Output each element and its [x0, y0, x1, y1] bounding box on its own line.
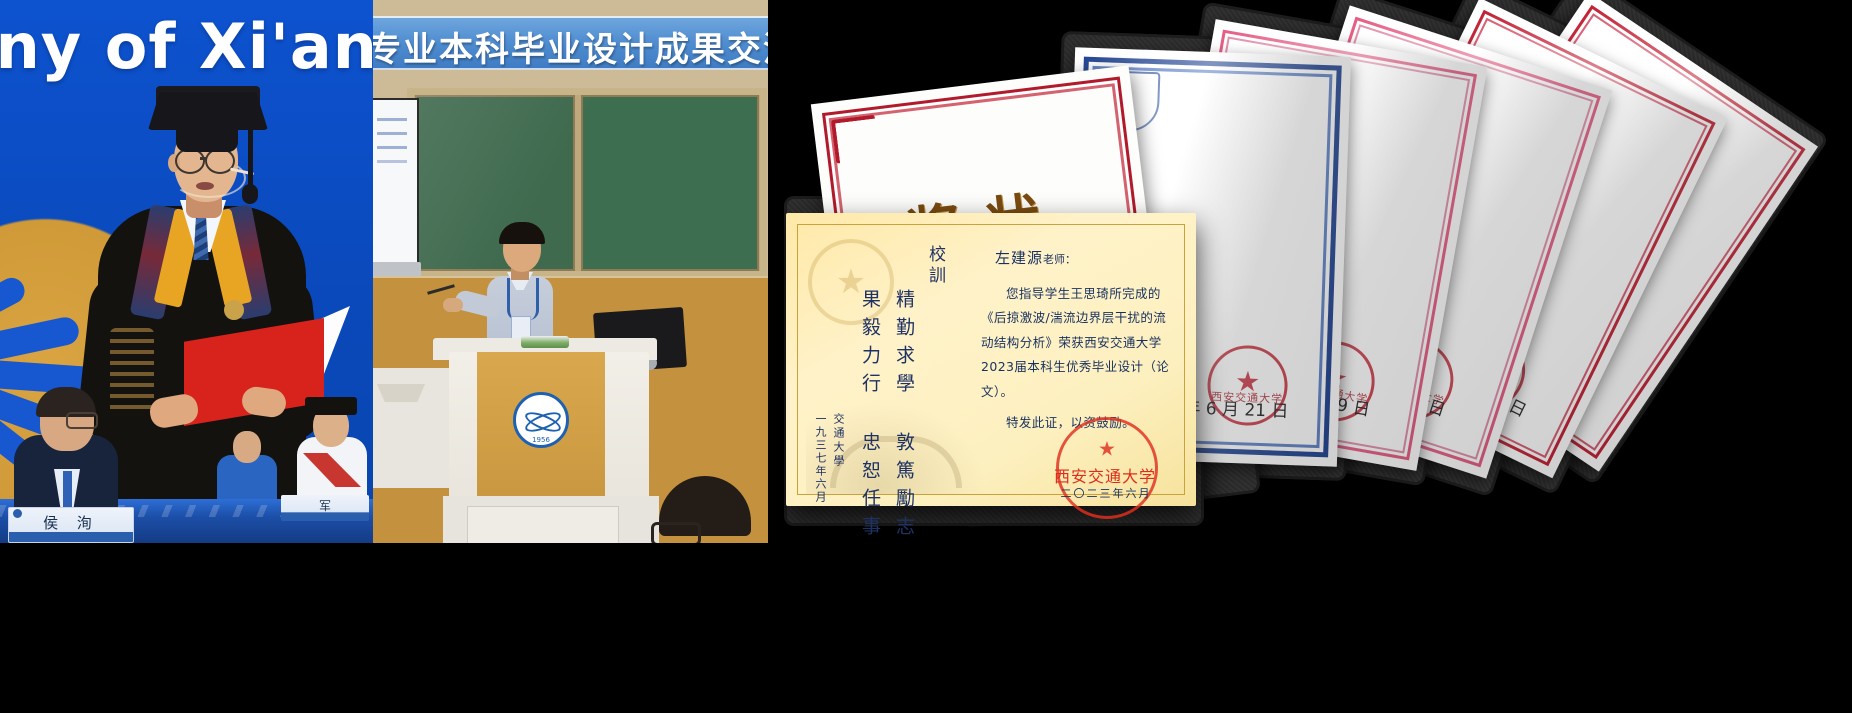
mortarboard-tassel: [248, 124, 253, 188]
official-tie: [63, 471, 72, 511]
event-banner-text: 专业本科毕业设计成果交流会: [373, 22, 768, 71]
mouth: [196, 182, 214, 190]
background-graduate: [283, 393, 373, 503]
ceremony-banner-text: ony of Xi'an: [0, 10, 373, 83]
desk-book: [521, 336, 569, 348]
audience-eyeglasses: [651, 522, 701, 543]
main-certificate-issue-date: 二〇二三年六月: [1044, 485, 1168, 501]
mortarboard-band: [176, 122, 238, 152]
name-plate-text-secondary: 军: [281, 497, 369, 514]
certificate-body-text: 您指导学生王思琦所完成的《后掠激波/湍流边界层干扰的流动结构分析》荣获西安交通大…: [981, 282, 1173, 404]
name-plate-secondary: 军: [281, 495, 369, 521]
certificate-body: 左建源老师： 您指导学生王思琦所完成的《后掠激波/湍流边界层干扰的流动结构分析》…: [981, 247, 1173, 431]
seated-official: [14, 373, 118, 513]
attendee-head: [233, 431, 261, 463]
university-logo-year: 1956: [513, 436, 569, 444]
background-attendee: [217, 431, 277, 503]
main-certificate-seal-text: 西安交通大学: [1052, 463, 1158, 487]
chalkboard-glare: [415, 95, 759, 271]
graduation-ceremony-photo: ony of Xi'an: [0, 0, 373, 543]
projection-screen: [373, 98, 419, 272]
podium-base-panel: [467, 506, 619, 543]
motto-line-1: 精勤求學 敦篤勵志: [891, 289, 918, 544]
award-corner-ornament: [831, 115, 880, 164]
motto-label: 校訓: [923, 245, 948, 287]
motto-line-2: 果毅力行 忠恕任事: [857, 289, 884, 544]
recipient-honorific: 老师：: [1043, 253, 1076, 266]
thesis-defense-photo: 专业本科毕业设计成果交流会 1956: [373, 0, 768, 543]
seal-star-icon: ★: [1098, 436, 1116, 461]
tassel-ball: [242, 184, 258, 204]
main-certificate: 校訓 精勤求學 敦篤勵志 果毅力行 忠恕任事 交通大學 一九三七年六月 左建源老…: [786, 213, 1196, 506]
name-plate-text: 侯 洵: [9, 512, 133, 533]
official-eyeglasses: [66, 412, 98, 429]
certificate-salutation: 左建源老师：: [995, 247, 1173, 268]
name-plate-primary: 侯 洵: [8, 507, 134, 543]
presenter-hair: [499, 222, 545, 244]
audience-member: [659, 476, 751, 543]
screenshot-root: ony of Xi'an: [0, 0, 1852, 713]
gown-emblem-icon: [224, 300, 244, 320]
certificate-fan-display: 西安交通大学 2020 年 12 月 12 日 西安交通大学 2020 年 12…: [768, 0, 1852, 713]
recipient-name: 左建源: [995, 249, 1043, 267]
event-banner: 专业本科毕业设计成果交流会: [373, 16, 768, 70]
graduate-figure: [92, 78, 312, 543]
graduate-cap: [305, 397, 357, 415]
side-desk-top: [377, 384, 425, 402]
presenter-hand: [443, 298, 463, 312]
motto-date: 一九三七年六月: [812, 413, 828, 504]
motto-university: 交通大學: [830, 413, 846, 469]
eyeglasses-bridge: [200, 157, 207, 160]
